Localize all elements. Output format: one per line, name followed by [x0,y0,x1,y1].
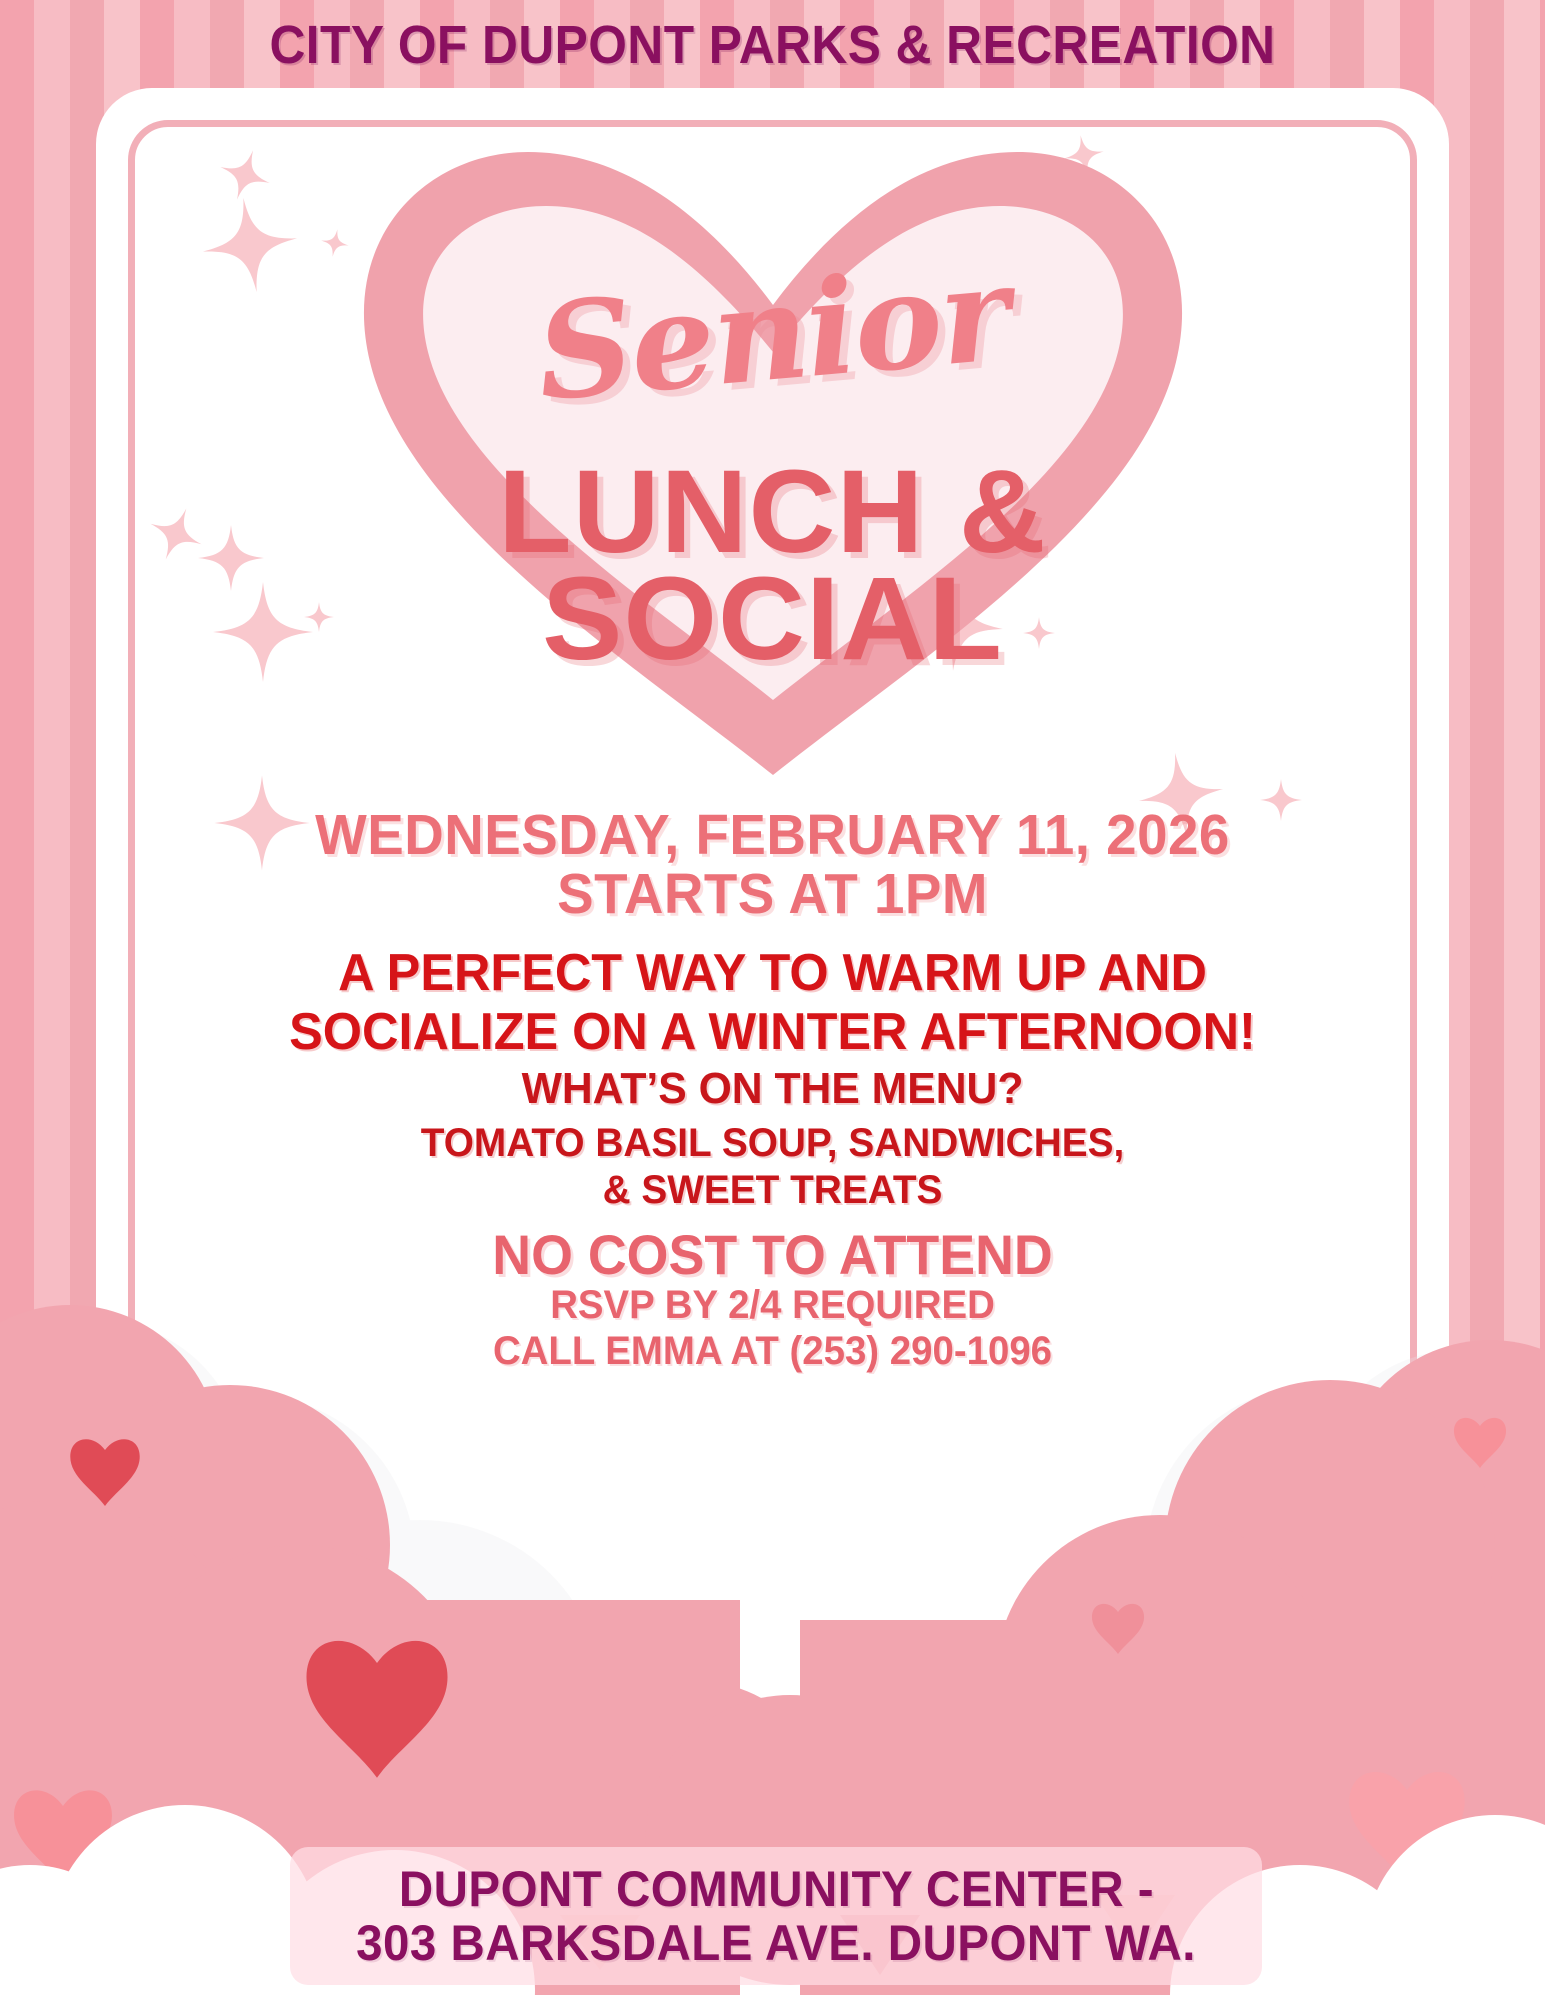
menu-items-line-1: TOMATO BASIL SOUP, SANDWICHES, [23,1120,1522,1167]
venue-line-2: 303 BARKSDALE AVE. DUPONT WA. [356,1916,1196,1970]
pitch-line-2: SOCIALIZE ON A WINTER AFTERNOON! [23,1003,1522,1062]
venue-banner: DUPONT COMMUNITY CENTER - 303 BARKSDALE … [290,1847,1262,1985]
page-title: CITY OF DUPONT PARKS & RECREATION [62,14,1483,76]
menu-items-line-2: & SWEET TREATS [23,1167,1522,1214]
event-time: STARTS AT 1PM [31,865,1514,924]
menu-heading: WHAT’S ON THE MENU? [23,1064,1522,1114]
pitch-line-1: A PERFECT WAY TO WARM UP AND [23,944,1522,1003]
rsvp-block: RSVP BY 2/4 REQUIRED CALL EMMA AT (253) … [31,1283,1514,1374]
flyer-poster: CITY OF DUPONT PARKS & RECREATION [0,0,1545,1999]
title-line-social: SOCIAL [0,560,1545,678]
rsvp-deadline: RSVP BY 2/4 REQUIRED [31,1283,1514,1329]
cost-statement: NO COST TO ATTEND [31,1222,1514,1287]
event-pitch: A PERFECT WAY TO WARM UP AND SOCIALIZE O… [23,944,1522,1063]
menu-items: TOMATO BASIL SOUP, SANDWICHES, & SWEET T… [23,1120,1522,1214]
event-date: WEDNESDAY, FEBRUARY 11, 2026 [31,806,1514,865]
rsvp-phone[interactable]: CALL EMMA AT (253) 290-1096 [31,1329,1514,1375]
event-datetime: WEDNESDAY, FEBRUARY 11, 2026 STARTS AT 1… [31,806,1514,923]
venue-line-1: DUPONT COMMUNITY CENTER - [398,1862,1153,1916]
